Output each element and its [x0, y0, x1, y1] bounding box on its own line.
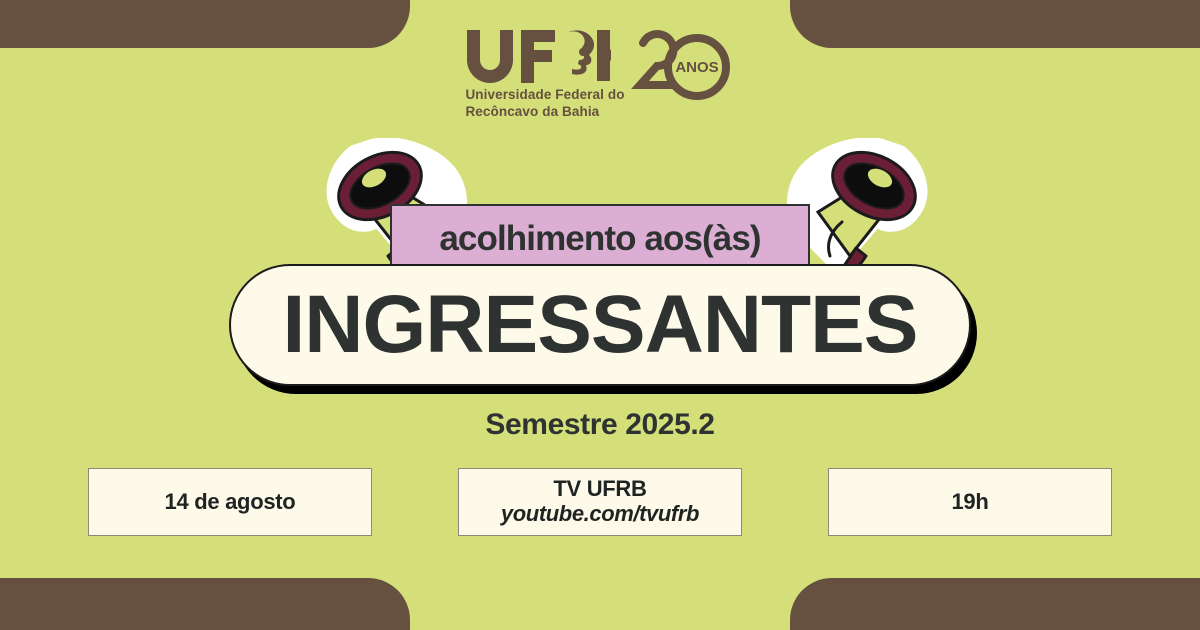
headline-pill: INGRESSANTES: [229, 264, 971, 386]
semester-label: Semestre 2025.2: [0, 408, 1200, 442]
anniversary-anos-label: ANOS: [675, 59, 718, 76]
corner-bar-bottom-right: [790, 578, 1200, 630]
info-box-channel[interactable]: TV UFRB youtube.com/tvufrb: [458, 468, 742, 536]
semester-text: Semestre 2025.2: [485, 408, 714, 441]
ufrb-wordmark-icon: [463, 26, 611, 84]
anniversary-20-icon: ANOS: [629, 22, 737, 104]
info-row: 14 de agosto TV UFRB youtube.com/tvufrb …: [0, 468, 1200, 536]
headline-text: INGRESSANTES: [283, 284, 918, 366]
subtitle-banner-text: acolhimento aos(às): [439, 219, 760, 259]
poster-canvas: Universidade Federal do Recôncavo da Bah…: [0, 0, 1200, 630]
info-time-main: 19h: [951, 490, 988, 515]
subtitle-banner: acolhimento aos(às): [390, 204, 810, 273]
info-channel-main: TV UFRB: [553, 477, 646, 502]
info-date-main: 14 de agosto: [165, 490, 296, 515]
logo-subtitle: Universidade Federal do Recôncavo da Bah…: [465, 86, 624, 121]
ufrb-logo: Universidade Federal do Recôncavo da Bah…: [0, 26, 1200, 121]
info-box-time: 19h: [828, 468, 1112, 536]
info-channel-url[interactable]: youtube.com/tvufrb: [501, 502, 699, 527]
info-box-date: 14 de agosto: [88, 468, 372, 536]
headline-pill-body: INGRESSANTES: [229, 264, 971, 386]
corner-bar-bottom-left: [0, 578, 410, 630]
